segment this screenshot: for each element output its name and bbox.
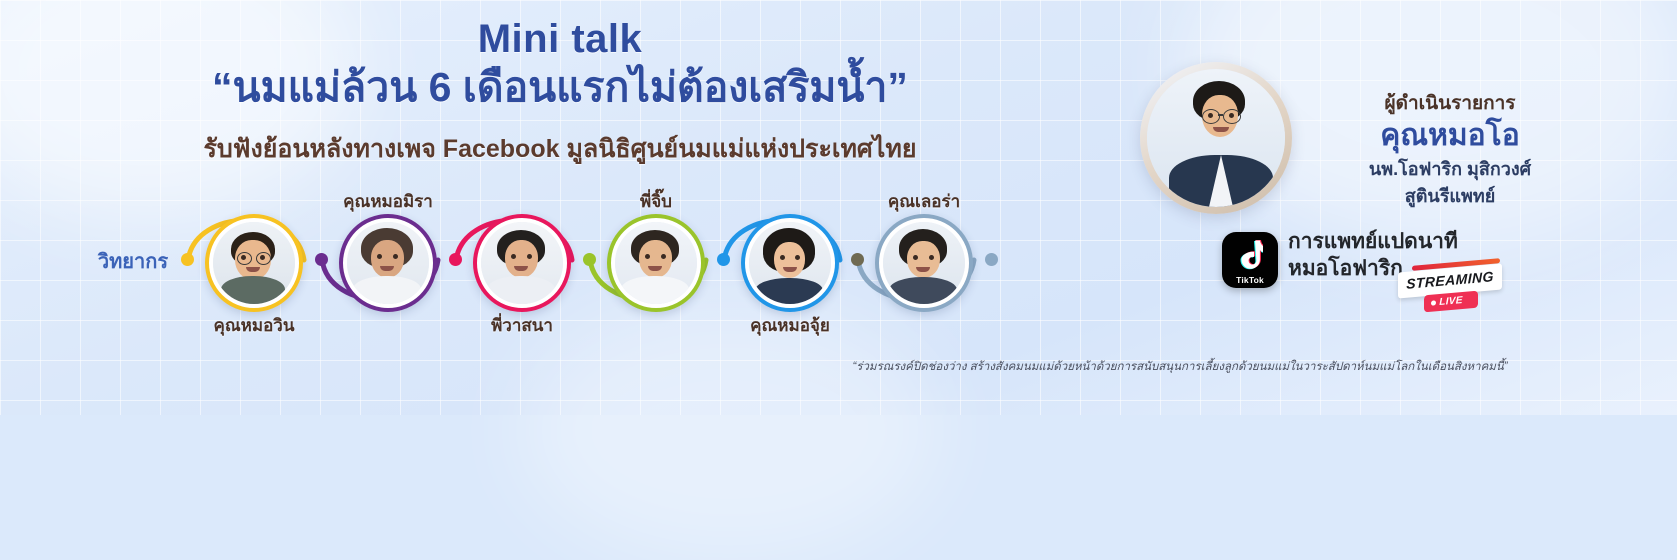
- live-label: LIVE: [1424, 291, 1478, 313]
- bg-glow-bottom: [520, 300, 940, 560]
- connector-dot-1: [181, 253, 194, 266]
- connector-dot-4: [583, 253, 596, 266]
- speaker-name-2: คุณหมอมิรา: [318, 188, 458, 215]
- headline-subtitle: รับฟังย้อนหลังทางเพจ Facebook มูลนิธิศูน…: [0, 129, 1120, 169]
- speaker-photo-3: [481, 222, 563, 304]
- connector-dot-2: [315, 253, 328, 266]
- speaker-avatar-3[interactable]: [473, 214, 571, 312]
- speaker-avatar-2[interactable]: [339, 214, 437, 312]
- speaker-avatar-5[interactable]: [741, 214, 839, 312]
- live-badge: LIVE: [1424, 291, 1478, 313]
- speaker-photo-2: [347, 222, 429, 304]
- speaker-photo-5: [749, 222, 831, 304]
- tiktok-note-glyph: [1237, 240, 1263, 270]
- host-role: ผู้ดำเนินรายการ: [1300, 88, 1600, 118]
- tiktok-label: TikTok: [1222, 275, 1278, 285]
- speaker-avatar-1[interactable]: [205, 214, 303, 312]
- streaming-label: STREAMING: [1398, 267, 1502, 292]
- headline-block: Mini talk “นมแม่ล้วน 6 เดือนแรกไม่ต้องเส…: [0, 18, 1120, 169]
- host-fullname: นพ.โอฟาริก มุสิกวงศ์: [1300, 157, 1600, 181]
- speakers-section-label: วิทยากร: [88, 245, 178, 277]
- footnote: “ร่วมรณรงค์ปิดช่องว่าง สร้างสังคมนมแม่ด้…: [830, 358, 1530, 376]
- headline-line1: Mini talk: [0, 18, 1120, 60]
- speaker-name-3: พี่วาสนา: [452, 312, 592, 339]
- tiktok-icon[interactable]: TikTok: [1222, 232, 1278, 288]
- speaker-avatar-6[interactable]: [875, 214, 973, 312]
- connector-dot-3: [449, 253, 462, 266]
- speaker-avatar-4[interactable]: [607, 214, 705, 312]
- host-nickname: คุณหมอโอ: [1300, 119, 1600, 154]
- headline-line2: “นมแม่ล้วน 6 เดือนแรกไม่ต้องเสริมน้ำ”: [0, 62, 1120, 113]
- connector-dot-5: [717, 253, 730, 266]
- channel-name-line1: การแพทย์แปดนาที: [1288, 229, 1548, 256]
- speaker-photo-4: [615, 222, 697, 304]
- host-title: สูตินรีแพทย์: [1300, 184, 1600, 208]
- speaker-name-6: คุณเลอร่า: [854, 188, 994, 215]
- connector-dot-7: [985, 253, 998, 266]
- speaker-name-4: พี่จิ๊บ: [586, 188, 726, 215]
- host-photo: [1147, 69, 1285, 207]
- host-avatar[interactable]: [1140, 62, 1292, 214]
- promo-banner: Mini talk “นมแม่ล้วน 6 เดือนแรกไม่ต้องเส…: [0, 0, 1677, 415]
- host-info: ผู้ดำเนินรายการ คุณหมอโอ นพ.โอฟาริก มุสิ…: [1300, 88, 1600, 208]
- speaker-photo-6: [883, 222, 965, 304]
- speaker-name-1: คุณหมอวิน: [184, 312, 324, 339]
- speaker-name-5: คุณหมอจุ้ย: [720, 312, 860, 339]
- connector-dot-6: [851, 253, 864, 266]
- speaker-photo-1: [213, 222, 295, 304]
